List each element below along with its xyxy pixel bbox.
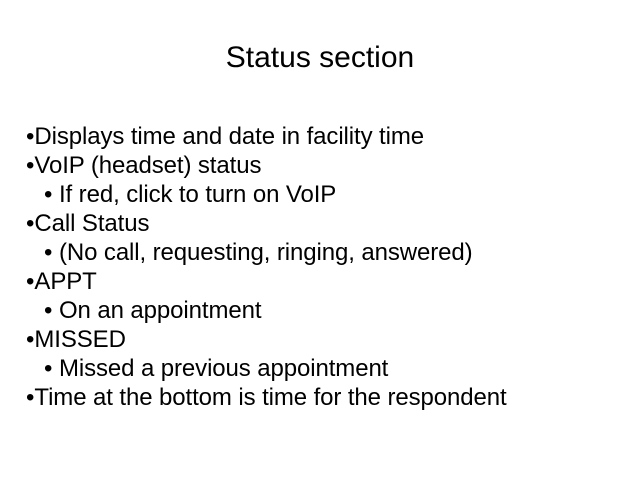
list-item: •VoIP (headset) status: [26, 151, 626, 180]
list-item-label: If red, click to turn on VoIP: [52, 181, 336, 208]
list-item: • On an appointment: [26, 296, 626, 325]
list-item-label: Missed a previous appointment: [52, 355, 388, 382]
slide-body-content: •Displays time and date in facility time…: [26, 122, 626, 412]
list-item: •Time at the bottom is time for the resp…: [26, 383, 626, 412]
list-item-label: Time at the bottom is time for the respo…: [34, 384, 506, 411]
list-item-label: MISSED: [34, 326, 125, 353]
list-item: • Missed a previous appointment: [26, 354, 626, 383]
list-item: •Call Status: [26, 209, 626, 238]
list-item-label: Call Status: [34, 210, 149, 237]
list-item: • (No call, requesting, ringing, answere…: [26, 238, 626, 267]
list-item: •APPT: [26, 267, 626, 296]
page-title: Status section: [0, 40, 640, 76]
presentation-slide: Status section •Displays time and date i…: [0, 0, 640, 480]
list-item: •MISSED: [26, 325, 626, 354]
list-item: •Displays time and date in facility time: [26, 122, 626, 151]
list-item-label: VoIP (headset) status: [34, 152, 261, 179]
list-item-label: APPT: [34, 268, 96, 295]
list-item: • If red, click to turn on VoIP: [26, 180, 626, 209]
list-item-label: Displays time and date in facility time: [34, 123, 424, 150]
list-item-label: On an appointment: [52, 297, 261, 324]
list-item-label: (No call, requesting, ringing, answered): [52, 239, 472, 266]
